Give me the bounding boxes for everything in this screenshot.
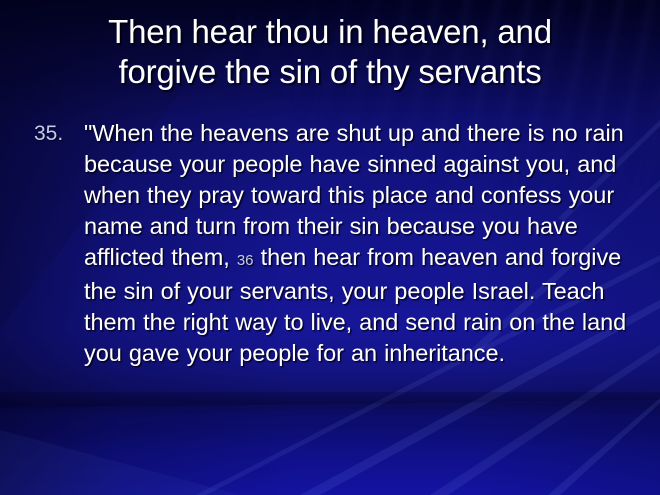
verse-text: "When the heavens are shut up and there … xyxy=(84,118,640,369)
slide-title: Then hear thou in heaven, and forgive th… xyxy=(0,12,660,92)
presentation-slide: Then hear thou in heaven, and forgive th… xyxy=(0,0,660,495)
inline-verse-number: 36 xyxy=(237,252,254,269)
verse-number: 35. xyxy=(30,118,84,149)
slide-body: 35. "When the heavens are shut up and th… xyxy=(30,118,640,369)
